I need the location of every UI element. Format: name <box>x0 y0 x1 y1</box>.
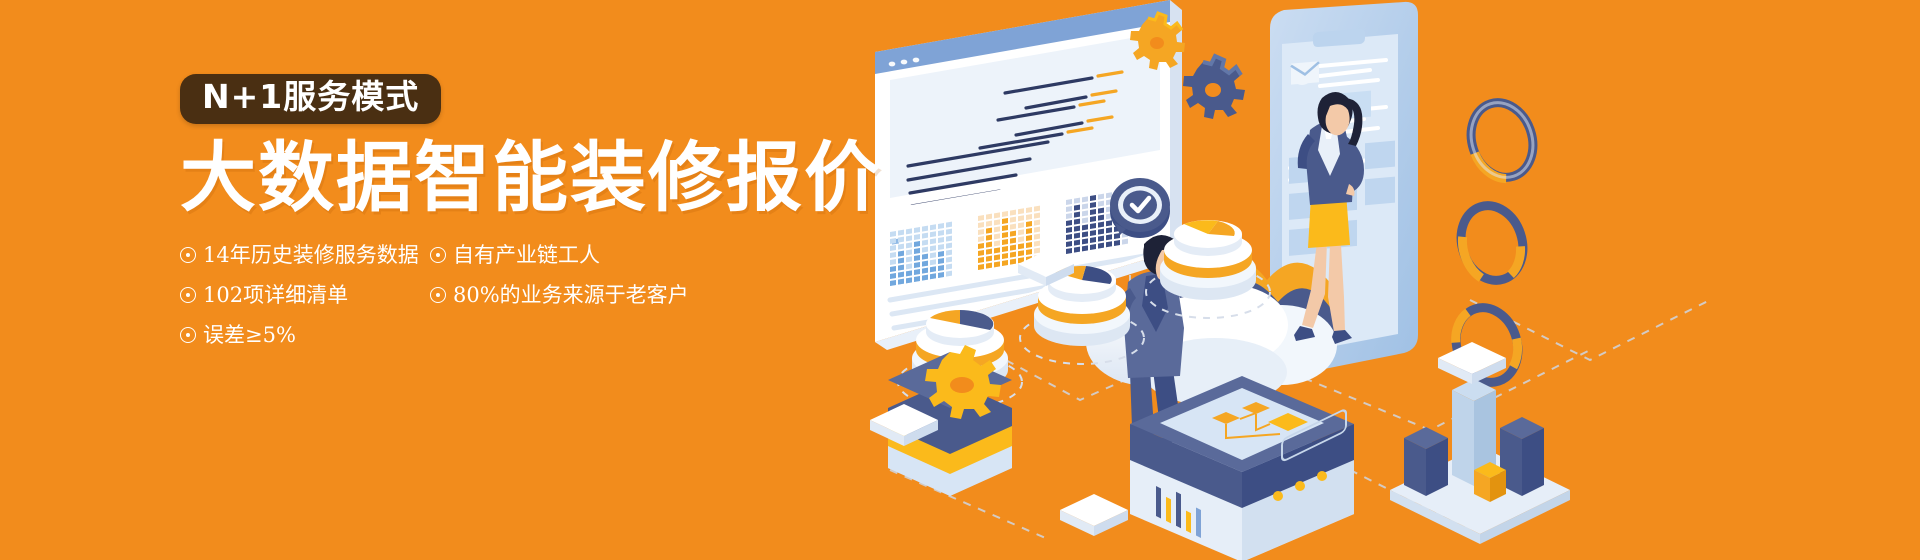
circle-dot-icon <box>180 287 196 303</box>
list-item: 80%的业务来源于老客户 <box>430 282 680 308</box>
banner-text-block: N+1服务模式 大数据智能装修报价 14年历史装修服务数据 自有产业链工人 10… <box>180 74 880 362</box>
isometric-analytics-illustration <box>830 0 1920 560</box>
feature-list: 14年历史装修服务数据 自有产业链工人 102项详细清单 80%的业务来源于老客… <box>180 242 720 349</box>
donut-ring-chart <box>1452 198 1533 289</box>
promo-banner: N+1服务模式 大数据智能装修报价 14年历史装修服务数据 自有产业链工人 10… <box>0 0 1920 560</box>
circle-dot-icon <box>430 247 446 263</box>
list-item: 102项详细清单 <box>180 282 430 308</box>
page-title: 大数据智能装修报价 <box>180 140 880 216</box>
list-item: 自有产业链工人 <box>430 242 680 268</box>
floating-tile <box>1060 494 1128 536</box>
service-mode-badge: N+1服务模式 <box>180 74 441 124</box>
check-badge-icon <box>1110 178 1170 238</box>
gear-icon-navy <box>1183 56 1245 119</box>
circle-dot-icon <box>180 247 196 263</box>
circle-dot-icon <box>180 327 196 343</box>
feature-row: 误差≥5% <box>180 322 720 348</box>
donut-ring-chart <box>1462 95 1543 186</box>
feature-row: 14年历史装修服务数据 自有产业链工人 <box>180 242 720 268</box>
list-item-label: 80%的业务来源于老客户 <box>453 282 689 308</box>
list-item-label: 102项详细清单 <box>203 282 348 308</box>
feature-row: 102项详细清单 80%的业务来源于老客户 <box>180 282 720 308</box>
list-item-label: 14年历史装修服务数据 <box>203 242 419 268</box>
list-item: 14年历史装修服务数据 <box>180 242 430 268</box>
list-item-label: 自有产业链工人 <box>453 242 600 268</box>
circle-dot-icon <box>430 287 446 303</box>
list-item-label: 误差≥5% <box>203 322 296 348</box>
bar-chart-3d-columns <box>1390 379 1570 544</box>
list-item: 误差≥5% <box>180 322 430 348</box>
